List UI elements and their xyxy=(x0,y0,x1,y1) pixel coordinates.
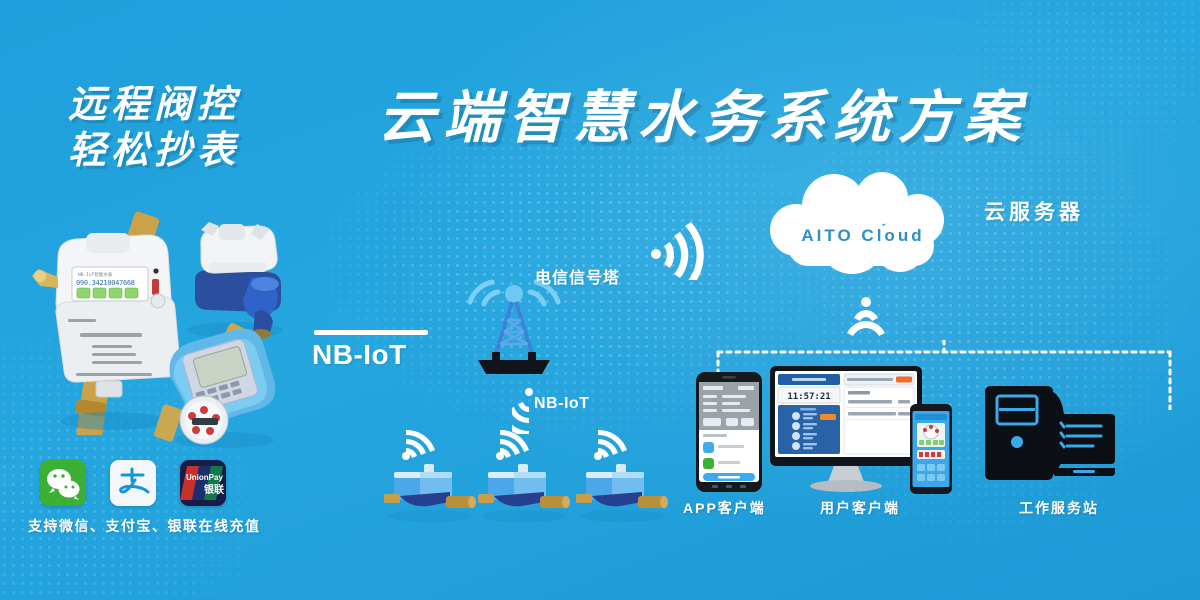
svg-text:银联: 银联 xyxy=(204,483,224,496)
banner-slogan-line2: 轻松抄表 xyxy=(68,128,240,174)
smartphone-icon xyxy=(696,372,762,492)
handheld-meter-reader-icon xyxy=(910,404,952,494)
banner-canvas: 远程阀控 轻松抄表 云端智慧水务系统方案 NB-IoT智能水表 090.3421… xyxy=(0,0,1200,600)
nbiot-label-secondary: NB-IoT xyxy=(534,395,589,413)
pc-tower-icon xyxy=(985,380,1115,490)
payment-icons-row: UnionPay 银联 xyxy=(40,460,290,506)
cloud-server-label: 云服务器 xyxy=(984,196,1084,226)
device-label-workstation: 工作服务站 xyxy=(1019,498,1099,518)
cloud-name: AITO Cloud xyxy=(748,226,978,246)
dashboard-clock: 11:57:21 xyxy=(787,392,830,402)
wechat-pay-icon[interactable] xyxy=(40,460,86,506)
wifi-icon xyxy=(496,430,529,460)
small-water-meter-2 xyxy=(466,424,576,524)
svg-text:NB-IoT智能水表: NB-IoT智能水表 xyxy=(78,271,113,278)
wifi-icon xyxy=(402,430,435,460)
banner-slogan: 远程阀控 轻松抄表 xyxy=(68,82,240,174)
hero-meter-blue-lcd xyxy=(152,320,302,450)
page-title: 云端智慧水务系统方案 xyxy=(378,86,1028,150)
svg-text:090.34210047668: 090.34210047668 xyxy=(76,279,135,287)
wifi-icon xyxy=(594,430,627,460)
banner-slogan-line1: 远程阀控 xyxy=(68,82,240,128)
wifi-icon-cloud-downlink xyxy=(836,296,896,344)
tower-label: 电信信号塔 xyxy=(535,264,620,288)
unionpay-icon[interactable]: UnionPay 银联 xyxy=(180,460,226,506)
small-water-meter-3 xyxy=(564,424,674,524)
wifi-icon-tower-to-cloud xyxy=(636,218,716,280)
nbiot-label-primary: NB-IoT xyxy=(312,330,407,371)
device-label-user-client: 用户客户端 xyxy=(820,498,900,518)
desktop-monitor-icon: 11:57:21 xyxy=(770,366,922,494)
alipay-icon[interactable] xyxy=(110,460,156,506)
svg-text:UnionPay: UnionPay xyxy=(186,473,223,482)
device-label-app-client: APP客户端 xyxy=(683,498,766,518)
payment-caption: 支持微信、支付宝、银联在线充值 xyxy=(28,516,261,536)
